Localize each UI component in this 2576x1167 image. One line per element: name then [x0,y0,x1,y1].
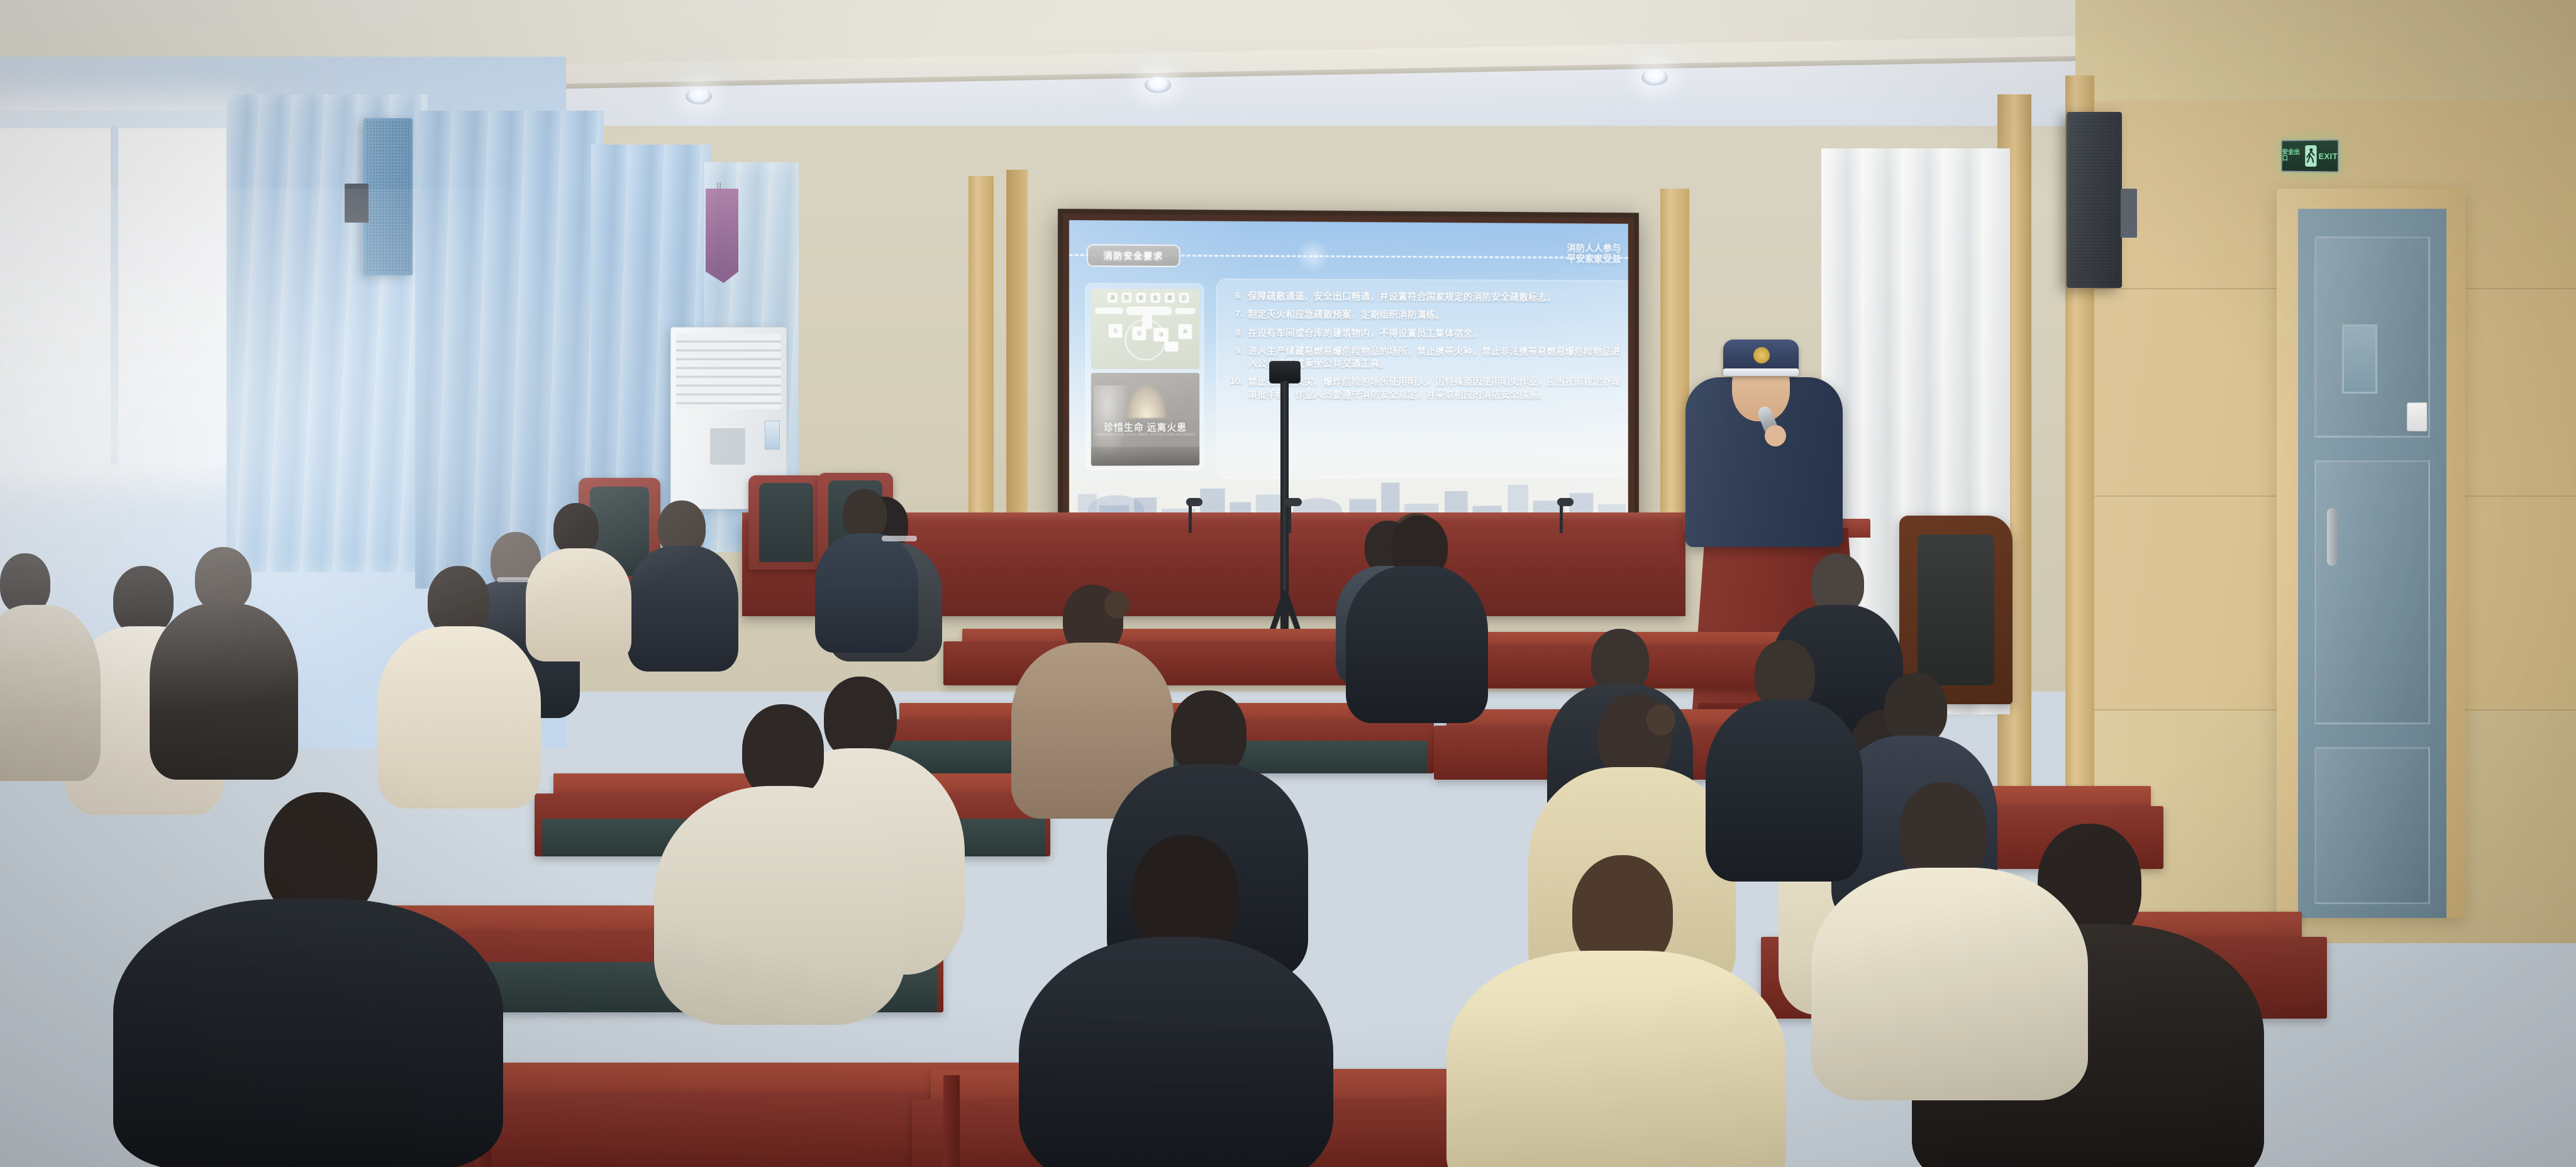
info-pictogram: ② [1132,326,1146,340]
hanging-banner [706,189,738,283]
projection-screen: 消防安全要求 消防人人参与 平安家家受益 消 防 安 全 常 识 [1069,220,1628,542]
presenter-hand [1765,425,1786,446]
slide-left-card: 消 防 安 全 常 识 ① ② ③ ④ [1085,283,1204,470]
info-icon: 消 [1108,292,1118,302]
ceiling-downlight [1641,69,1668,86]
slide-poster: 珍惜生命 远离火患 CHERISH LIFE STAY AWAY FROM FI… [1091,373,1199,466]
info-chip [1126,306,1172,315]
flame-graphic [1126,384,1167,418]
bullet-text: 保障疏散通道、安全出口畅通，并设置符合国家规定的消防安全疏散标志。 [1248,290,1556,304]
bullet-number: 7. [1224,309,1243,321]
info-icon: 识 [1179,293,1189,303]
ceiling-downlight [686,88,712,104]
table-microphone-stand [1288,503,1291,533]
cap-band [1723,368,1799,376]
bullet-text: 禁止在具有火灾、爆炸危险的场所使用明火，因特殊原因使用明火作业，应当按照规定办理… [1248,376,1624,401]
armchair-cushion [1918,534,1994,685]
tripod-phone-mount [1269,361,1301,384]
bullet-text: 制定灭火和应急疏散预案，定期组织消防演练。 [1248,309,1445,322]
slogan-line-2: 平安家家受益 [1567,254,1621,265]
door-vision-panel [2342,324,2377,394]
poster-subline: CHERISH LIFE STAY AWAY FROM FIRE HAZARDS [1091,433,1199,437]
table-microphone-head [1557,498,1574,506]
info-icon: 常 [1165,293,1175,303]
slogan-line-1: 消防人人参与 [1567,243,1621,254]
eyeglasses-icon [882,536,917,541]
info-pictogram: ③ [1153,328,1169,341]
door-panel [2314,747,2430,904]
projection-screen-frame: 消防安全要求 消防人人参与 平安家家受益 消 防 安 全 常 识 [1058,209,1639,553]
slide-infographic: 消 防 安 全 常 识 ① ② ③ ④ [1091,289,1199,369]
table-microphone-head [1285,498,1302,506]
bullet-number: 8. [1224,327,1243,340]
infographic-icon-row: 消 防 安 全 常 识 [1108,292,1189,302]
table-microphone-stand [1189,503,1192,533]
window-mullion [111,126,118,465]
info-icon: 全 [1150,293,1160,303]
slide-bullet: 8. 在设有车间或仓库的建筑物内，不得设置员工集体宿舍。 [1224,327,1624,340]
emergency-exit-sign: 安全出口 EXIT [2281,139,2339,172]
exit-sign-chinese-label: 安全出口 [2282,150,2303,162]
eyeglasses-icon [497,577,530,582]
table-microphone-stand [1560,503,1563,533]
slide-light-glow [1297,239,1330,273]
ac-louvers [676,334,781,409]
light-switch[interactable] [2407,402,2427,431]
bullet-number: 10. [1224,376,1243,401]
info-pictogram: ① [1109,324,1123,338]
info-chip [1095,307,1124,314]
wall-speaker-right [2067,112,2122,288]
bullet-text: 进入生产储藏易燃易爆危险物品的场所，禁止携带火种。禁止非法携带易燃易爆危险物品进… [1248,345,1624,370]
poster-skyline [1091,446,1199,465]
room-door[interactable] [2298,209,2446,918]
bullet-number: 6. [1224,290,1243,303]
running-man-icon [2305,145,2317,167]
ac-energy-label [765,421,780,450]
bench-leg [943,1075,960,1167]
slide-title: 消防安全要求 [1087,244,1180,267]
wall-column [969,176,994,528]
info-pictogram: ④ [1179,324,1192,339]
slide-bullet: 7. 制定灭火和应急疏散预案，定期组织消防演练。 [1224,309,1624,323]
door-panel [2314,460,2430,724]
wall-column [1006,170,1028,528]
speaker-grille [2069,114,2119,285]
ceiling-downlight [1145,77,1171,93]
cap-badge-icon [1753,347,1770,363]
conference-room-scene: 安全出口 EXIT 消防安全要求 消防人人参与 平安家家受益 [0,0,2576,1167]
slide-bullet: 6. 保障疏散通道、安全出口畅通，并设置符合国家规定的消防安全疏散标志。 [1224,290,1624,304]
slide-corner-slogan: 消防人人参与 平安家家受益 [1567,243,1621,265]
bullet-number: 9. [1224,345,1243,370]
exit-sign-english-label: EXIT [2319,151,2338,160]
speaker-grille [366,121,410,273]
ac-display-panel [710,428,745,465]
table-microphone-head [1186,498,1202,506]
door-handle[interactable] [2327,508,2337,566]
info-icon: 安 [1136,292,1146,302]
info-icon: 防 [1122,292,1132,302]
theater-seat[interactable] [748,475,824,570]
bullet-text: 在设有车间或仓库的建筑物内，不得设置员工集体宿舍。 [1248,327,1482,340]
info-pictogram [1165,341,1179,351]
info-chip [1175,308,1196,314]
speaker-bracket [2121,189,2137,238]
speaker-bracket [345,184,369,223]
wall-speaker-left [364,118,413,275]
poster-headline: 珍惜生命 远离火患 [1091,421,1199,434]
seat-cushion [759,483,813,562]
